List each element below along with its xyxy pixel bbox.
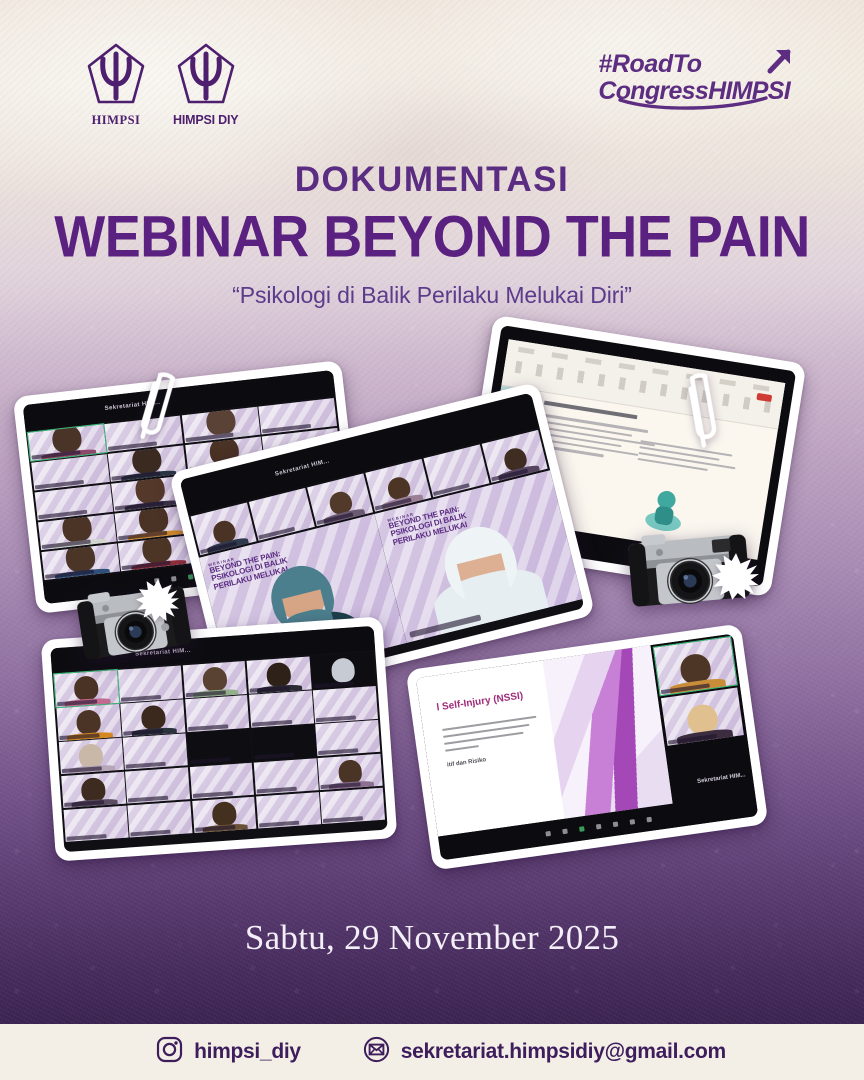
participant-tile (247, 657, 312, 694)
logo-group: HIMPSI HIMPSI DIY (85, 42, 238, 128)
participant-tile (59, 738, 124, 775)
zoom-participants-icon[interactable] (595, 823, 601, 829)
instagram-icon (156, 1036, 183, 1068)
participant-tile (318, 754, 383, 791)
participant-tile (56, 704, 121, 741)
participant-tile (182, 661, 247, 698)
poster-canvas: HIMPSI HIMPSI DIY #RoadTo CongressHIMPSI (0, 0, 864, 1080)
participant-tile (654, 637, 737, 695)
participant-tile (313, 686, 378, 723)
instagram-handle: himpsi_diy (194, 1040, 301, 1064)
photo-slide-nssi-bottom-right[interactable]: l Self-Injury (NSSI) itif dan Risiko (406, 623, 769, 870)
zoom-chat-icon[interactable] (612, 821, 618, 827)
psi-pentagon-icon (175, 42, 237, 110)
zoom-share-icon[interactable] (578, 826, 584, 832)
participant-tile (64, 805, 129, 842)
slide-subheading: itif dan Risiko (447, 757, 487, 768)
slide-content: l Self-Injury (NSSI) itif dan Risiko (416, 645, 673, 836)
participant-tile (311, 652, 376, 689)
title-eyebrow: DOKUMENTASI (0, 160, 864, 200)
participant-tile (661, 687, 744, 745)
underline-swoosh-icon (618, 96, 768, 115)
participant-tile (121, 700, 186, 737)
zoom-host-label: Sekretariat HIM... (697, 772, 746, 785)
arrow-up-right-icon (762, 44, 796, 83)
event-date: Sabtu, 29 November 2025 (0, 918, 864, 958)
participant-tile (192, 796, 257, 833)
poster-header: HIMPSI HIMPSI DIY #RoadTo CongressHIMPSI (0, 0, 864, 150)
participant-tile (320, 787, 385, 824)
email-address: sekretariat.himpsidiy@gmail.com (401, 1040, 726, 1064)
zoom-mic-icon[interactable] (545, 831, 551, 837)
slide-paragraph (442, 716, 544, 758)
logo-himpsi: HIMPSI (85, 42, 147, 128)
page-title: WEBINAR BEYOND THE PAIN (0, 204, 864, 271)
email-contact[interactable]: sekretariat.himpsidiy@gmail.com (363, 1036, 726, 1068)
participant-tile (118, 666, 183, 703)
participant-tile (123, 733, 188, 770)
participant-tile (254, 758, 319, 795)
instagram-contact[interactable]: himpsi_diy (156, 1036, 301, 1068)
participant-tile (187, 729, 252, 766)
participant-tile (189, 763, 254, 800)
logo-himpsi-label: HIMPSI (92, 113, 141, 128)
zoom-share-icon[interactable] (188, 574, 194, 580)
participant-tile (251, 724, 316, 761)
zoom-host-label: Sekretariat HIM... (274, 458, 330, 477)
poster-titles: DOKUMENTASI WEBINAR BEYOND THE PAIN “Psi… (0, 160, 864, 309)
zoom-record-icon[interactable] (629, 819, 635, 825)
participant-tile (128, 801, 193, 838)
slide-heading: l Self-Injury (NSSI) (436, 691, 524, 714)
campaign-hashtag: #RoadTo CongressHIMPSI (598, 52, 790, 104)
participant-tile (315, 720, 380, 757)
sparkle-right (712, 552, 760, 605)
participant-tile (125, 767, 190, 804)
zoom-video-icon[interactable] (562, 828, 568, 834)
presentation-screen: l Self-Injury (NSSI) itif dan Risiko (416, 634, 758, 861)
participant-tile (256, 792, 321, 829)
logo-himpsi-diy: HIMPSI DIY (173, 42, 238, 127)
logo-himpsi-diy-label: HIMPSI DIY (173, 113, 238, 127)
poster-footer: himpsi_diy sekretariat.himpsidiy@gmail.c… (0, 1024, 864, 1080)
zoom-more-icon[interactable] (646, 816, 652, 822)
psi-pentagon-icon (85, 42, 147, 110)
participant-tile (54, 670, 119, 707)
title-subtitle: “Psikologi di Balik Perilaku Melukai Dir… (0, 282, 864, 309)
photo-collage: Sekretariat HIM... (0, 330, 864, 890)
participant-tile (185, 695, 250, 732)
sparkle-left (136, 578, 180, 627)
zoom-participant-grid (52, 650, 387, 844)
participant-tile (61, 771, 126, 808)
participant-tile (249, 691, 314, 728)
envelope-icon (363, 1036, 390, 1068)
